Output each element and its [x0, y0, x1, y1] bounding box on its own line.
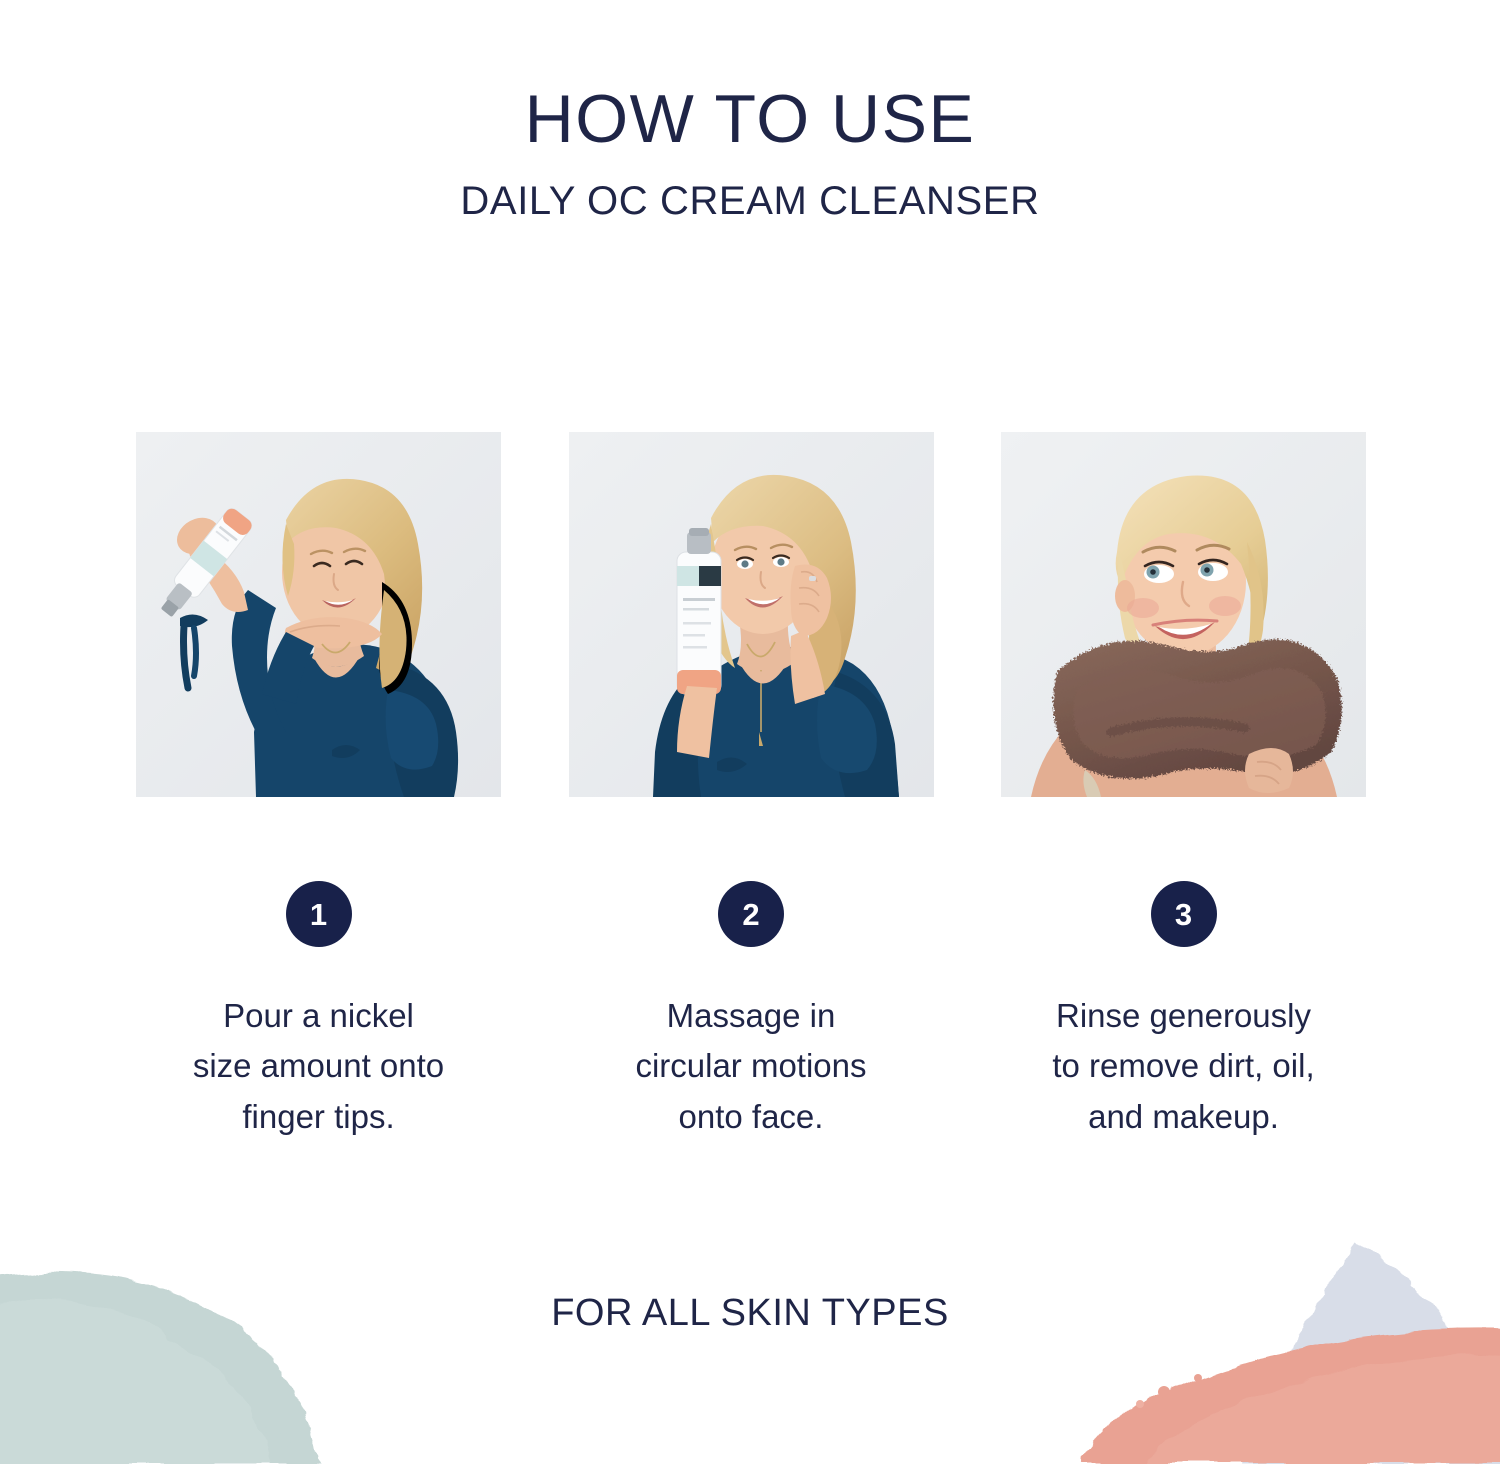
steps-row: 1 Pour a nickel size amount onto finger … — [136, 432, 1366, 1142]
step-2-badge-wrap: 2 — [718, 881, 784, 947]
blue-gray-brush-stroke — [1240, 1242, 1500, 1464]
decorative-brush-strokes — [0, 1234, 1500, 1464]
footer: FOR ALL SKIN TYPES — [0, 1292, 1500, 1335]
step-3-photo — [1001, 432, 1366, 797]
footer-text: FOR ALL SKIN TYPES — [551, 1292, 949, 1334]
step-3-caption: Rinse generously to remove dirt, oil, an… — [1001, 991, 1366, 1142]
header: HOW TO USE DAILY OC CREAM CLEANSER — [0, 0, 1500, 224]
step-2-photo — [569, 432, 934, 797]
step-number-badge: 1 — [286, 881, 352, 947]
step-2-caption: Massage in circular motions onto face. — [569, 991, 934, 1142]
step-3: 3 Rinse generously to remove dirt, oil, … — [1001, 432, 1366, 1142]
step-1-badge-wrap: 1 — [286, 881, 352, 947]
step-number-badge: 2 — [718, 881, 784, 947]
step-2: 2 Massage in circular motions onto face. — [569, 432, 934, 1142]
page-title: HOW TO USE — [0, 0, 1500, 155]
step-1-caption: Pour a nickel size amount onto finger ti… — [136, 991, 501, 1142]
step-3-badge-wrap: 3 — [1151, 881, 1217, 947]
step-1: 1 Pour a nickel size amount onto finger … — [136, 432, 501, 1142]
page-subtitle: DAILY OC CREAM CLEANSER — [0, 155, 1500, 224]
step-1-photo — [136, 432, 501, 797]
coral-brush-stroke — [1078, 1329, 1500, 1464]
step-number-badge: 3 — [1151, 881, 1217, 947]
